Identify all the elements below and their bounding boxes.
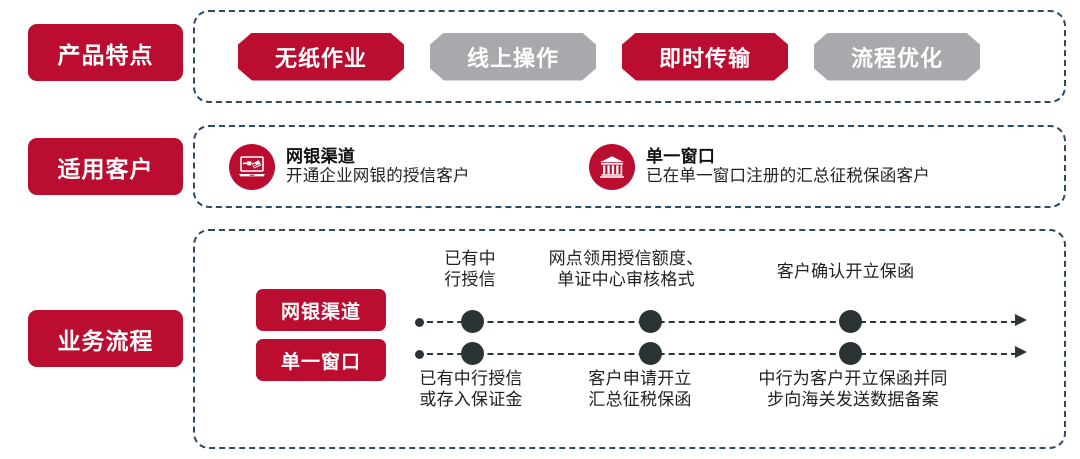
customer-item-online-banking[interactable]: 网银渠道 开通企业网银的授信客户: [229, 144, 589, 190]
process-bottom-step-3: 中行为客户开立保函并同 步向海关发送数据备案: [723, 369, 983, 412]
section-label-product-features: 产品特点: [28, 24, 183, 81]
timeline-single-window: [415, 341, 1040, 367]
section-label-business-process: 业务流程: [28, 310, 183, 367]
process-top-step-3: 客户确认开立保函: [738, 262, 953, 283]
arrow-head-icon: [1015, 346, 1027, 358]
process-channel-online-banking[interactable]: 网银渠道: [256, 289, 386, 331]
laptop-hand-card-icon: [229, 144, 275, 190]
feature-tag-instant-transmission[interactable]: 即时传输: [622, 33, 788, 81]
timeline-node-2[interactable]: [639, 342, 662, 365]
feature-tag-process-optimization[interactable]: 流程优化: [814, 33, 980, 81]
timeline-node-3[interactable]: [839, 310, 862, 333]
process-diagram: 网银渠道 单一窗口 已有中 行授信 网点领用授信额度、 单证中心审核格式 客户确…: [193, 229, 1066, 449]
customer-description: 开通企业网银的授信客户: [286, 167, 470, 185]
feature-tag-paperless[interactable]: 无纸作业: [238, 33, 404, 81]
customer-title: 网银渠道: [286, 148, 470, 167]
process-bottom-step-1: 已有中行授信 或存入保证金: [388, 369, 554, 412]
timeline-line: [417, 321, 1017, 323]
process-bottom-step-2: 客户申请开立 汇总征税保函: [558, 369, 722, 412]
customer-item-single-window[interactable]: 单一窗口 已在单一窗口注册的汇总征税保函客户: [589, 144, 930, 190]
timeline-node-1[interactable]: [461, 310, 484, 333]
diagram-canvas: 产品特点 无纸作业 线上操作 即时传输 流程优化 适用客户: [0, 0, 1080, 459]
process-top-step-2: 网点领用授信额度、 单证中心审核格式: [523, 249, 729, 292]
timeline-start-dot: [415, 318, 424, 327]
timeline-start-dot: [415, 350, 424, 359]
timeline-node-1[interactable]: [461, 342, 484, 365]
bank-building-icon: [589, 144, 635, 190]
feature-tag-group: 无纸作业 线上操作 即时传输 流程优化: [193, 10, 1066, 103]
process-top-step-1: 已有中 行授信: [417, 249, 523, 292]
timeline-online-banking: [415, 309, 1040, 335]
customer-text-block: 单一窗口 已在单一窗口注册的汇总征税保函客户: [646, 148, 930, 186]
customer-description: 已在单一窗口注册的汇总征税保函客户: [646, 167, 930, 185]
process-timelines: [415, 309, 1040, 371]
section-label-applicable-customers: 适用客户: [28, 138, 183, 195]
feature-tag-online-operation[interactable]: 线上操作: [430, 33, 596, 81]
customer-title: 单一窗口: [646, 148, 930, 167]
customer-text-block: 网银渠道 开通企业网银的授信客户: [286, 148, 470, 186]
timeline-node-3[interactable]: [839, 342, 862, 365]
customer-group: 网银渠道 开通企业网银的授信客户: [193, 125, 1066, 208]
timeline-node-2[interactable]: [639, 310, 662, 333]
arrow-head-icon: [1015, 314, 1027, 326]
timeline-line: [417, 353, 1017, 355]
process-channel-single-window[interactable]: 单一窗口: [256, 339, 386, 381]
